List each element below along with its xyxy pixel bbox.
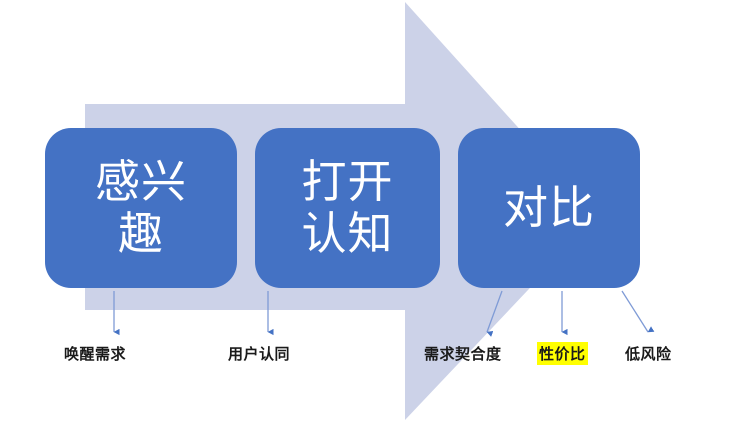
stage-box-compare[interactable]: 对比: [458, 128, 640, 288]
stage-label-open-cognition: 打开 认知: [301, 156, 393, 260]
stage-label-interest: 感兴 趣: [95, 156, 187, 260]
stage-box-interest[interactable]: 感兴 趣: [45, 128, 237, 288]
diagram-canvas: 感兴 趣 打开 认知 对比 唤醒需求 用户认同 需求契合度 性价比 低风险: [0, 0, 730, 434]
outcome-label-user-identification: 用户认同: [228, 343, 290, 364]
outcome-label-low-risk: 低风险: [625, 343, 672, 364]
outcome-label-demand-fit: 需求契合度: [424, 343, 502, 364]
stage-box-open-cognition[interactable]: 打开 认知: [255, 128, 440, 288]
connector-arrow-low-risk: [622, 291, 648, 332]
outcome-label-cost-performance: 性价比: [537, 342, 588, 365]
connector-arrow-demand-fit: [487, 291, 502, 332]
outcome-label-awaken-demand: 唤醒需求: [64, 343, 126, 364]
stage-label-compare: 对比: [503, 182, 595, 234]
